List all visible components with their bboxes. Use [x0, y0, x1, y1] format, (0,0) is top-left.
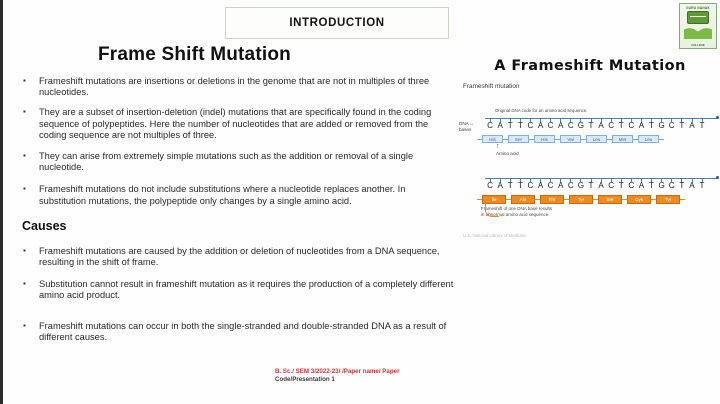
dna-base: T — [677, 121, 687, 131]
dna-base: C — [667, 121, 677, 131]
dna-base: A — [495, 181, 505, 191]
dna-base: T — [647, 121, 657, 131]
dna-base: T — [505, 181, 515, 191]
axis-tick — [611, 118, 612, 122]
dna-bases-label: DNA→ bases — [459, 121, 474, 133]
dna-base: C — [525, 121, 535, 131]
amino-acid-arrow-icon: ↑ — [496, 144, 719, 150]
dna-base: T — [616, 121, 626, 131]
logo-bottom-text: COLLEGE — [680, 43, 716, 47]
mutant-sequence-axis — [485, 176, 719, 181]
slide-footer: B. Sc./ SEM 3/2022-23/ /Paper name/ Pape… — [275, 368, 475, 384]
list-item: Frameshift mutations do not include subs… — [15, 184, 455, 206]
dna-base: C — [626, 181, 636, 191]
axis-endcap-icon — [716, 176, 719, 179]
causes-bullet-list: Frameshift mutations are caused by the a… — [15, 246, 455, 343]
amino-acid-box: Ala — [511, 195, 535, 204]
dna-base: T — [586, 121, 596, 131]
axis-tick — [591, 118, 592, 122]
causes-heading: Causes — [22, 219, 455, 233]
axis-tick — [520, 118, 521, 122]
dna-base: T — [616, 181, 626, 191]
list-item: Frameshift mutations are caused by the a… — [15, 246, 455, 268]
dna-base: T — [505, 121, 515, 131]
mutant-amino-acid-row: IleAlaThrTyrSerCysTyr — [477, 195, 719, 204]
dna-base: A — [636, 181, 646, 191]
amino-acid-box: Ser — [598, 195, 622, 204]
axis-tick — [671, 118, 672, 122]
amino-acid-box: His — [482, 135, 503, 143]
amino-acid-link — [659, 139, 664, 140]
axis-tick — [601, 118, 602, 122]
dna-base: T — [697, 181, 707, 191]
axis-tick — [580, 118, 581, 122]
amino-acid-box: Leu — [638, 135, 659, 143]
figure-row-gap — [461, 157, 719, 173]
amino-acid-box: Leu — [586, 135, 607, 143]
dna-base: A — [556, 181, 566, 191]
logo-top-text: GURU NANAK — [680, 6, 716, 10]
amino-acid-box: Tyr — [656, 195, 680, 204]
dna-base: C — [485, 181, 495, 191]
dna-base: A — [596, 181, 606, 191]
dna-base: A — [687, 181, 697, 191]
amino-acid-pointer-label: Amino acid — [496, 151, 719, 157]
list-item: Frameshift mutations are insertions or d… — [15, 76, 455, 98]
axis-tick — [510, 118, 511, 122]
dna-base: C — [485, 121, 495, 131]
dna-label-line1: DNA — [459, 121, 469, 126]
dna-base: A — [636, 121, 646, 131]
dna-base: C — [546, 121, 556, 131]
axis-tick — [500, 178, 501, 182]
axis-endcap-icon — [716, 116, 719, 119]
page-title: Frame Shift Mutation — [98, 44, 291, 66]
introduction-header-box: INTRODUCTION — [225, 7, 449, 39]
axis-tick — [570, 178, 571, 182]
axis-tick — [510, 178, 511, 182]
dna-base: C — [606, 181, 616, 191]
logo-leaf-icon — [684, 22, 712, 39]
axis-tick — [500, 118, 501, 122]
list-item: Frameshift mutations can occur in both t… — [15, 321, 455, 343]
axis-tick — [621, 178, 622, 182]
amino-acid-box: Thr — [540, 195, 564, 204]
axis-tick — [681, 118, 682, 122]
dna-base: C — [525, 181, 535, 191]
list-item: They can arise from extremely simple mut… — [15, 151, 455, 173]
college-logo-icon: GURU NANAK COLLEGE — [679, 3, 717, 49]
axis-tick — [661, 118, 662, 122]
axis-tick — [641, 118, 642, 122]
axis-tick — [641, 178, 642, 182]
dna-base: A — [535, 181, 545, 191]
axis-tick — [560, 178, 561, 182]
amino-acid-box: Met — [612, 135, 633, 143]
amino-acid-box: His — [534, 135, 555, 143]
axis-tick — [661, 178, 662, 182]
axis-tick — [550, 178, 551, 182]
axis-tick — [540, 178, 541, 182]
slide-canvas: INTRODUCTION GURU NANAK COLLEGE Frame Sh… — [0, 0, 720, 404]
list-item: They are a subset of insertion-deletion … — [15, 107, 455, 141]
axis-tick — [651, 178, 652, 182]
dna-base: A — [687, 121, 697, 131]
amino-acid-box: Tyr — [569, 195, 593, 204]
axis-tick — [601, 178, 602, 182]
dna-base: C — [626, 121, 636, 131]
list-item: Substitution cannot result in frameshift… — [15, 279, 455, 301]
dna-label-line2: bases — [459, 127, 471, 132]
dna-base: A — [556, 121, 566, 131]
amino-acid-box: Val — [560, 135, 581, 143]
axis-tick — [631, 178, 632, 182]
axis-tick — [591, 178, 592, 182]
dna-base: C — [566, 181, 576, 191]
dna-base: G — [576, 181, 586, 191]
mutant-sequence-block: CATTCACACGTACTCATGCTAT IleAlaThrTyrSerCy… — [461, 176, 719, 217]
axis-tick — [692, 118, 693, 122]
axis-tick — [490, 178, 491, 182]
normal-sequence-block: DNA→ bases CATTCACACGTACTCATGCTAT HisSer… — [461, 116, 719, 157]
dna-label-arrow-icon: → — [469, 121, 474, 127]
dna-base: C — [546, 181, 556, 191]
amino-acid-pointer: ↑ Amino acid — [496, 144, 719, 157]
axis-tick — [692, 178, 693, 182]
axis-tick — [530, 178, 531, 182]
normal-sequence-axis — [485, 116, 719, 121]
axis-tick — [681, 178, 682, 182]
axis-tick — [520, 178, 521, 182]
figure-credit: U.S. National Library of Medicine — [463, 233, 719, 238]
axis-tick — [560, 118, 561, 122]
dna-base: G — [657, 181, 667, 191]
dna-base: T — [647, 181, 657, 191]
dna-base: T — [515, 181, 525, 191]
axis-tick — [570, 118, 571, 122]
dna-base: G — [657, 121, 667, 131]
figure-panel: A Frameshift Mutation Frameshift mutatio… — [461, 58, 719, 333]
mutant-base-sequence: CATTCACACGTACTCATGCTAT — [485, 181, 719, 191]
intro-bullet-list: Frameshift mutations are insertions or d… — [15, 76, 455, 207]
dna-base: G — [576, 121, 586, 131]
footer-line-1: B. Sc./ SEM 3/2022-23/ /Paper name/ Pape… — [275, 368, 475, 376]
axis-tick — [611, 178, 612, 182]
dna-base: T — [515, 121, 525, 131]
axis-tick — [651, 118, 652, 122]
dna-base: C — [667, 181, 677, 191]
figure-top-caption: Original DNA code for an amino acid sequ… — [495, 108, 719, 113]
dna-base: C — [606, 121, 616, 131]
axis-tick — [540, 118, 541, 122]
axis-tick — [671, 178, 672, 182]
axis-tick — [580, 178, 581, 182]
content-column: Frameshift mutations are insertions or d… — [15, 76, 455, 343]
footer-line-2: Code/Presentation 1 — [275, 376, 475, 384]
dna-base: T — [586, 181, 596, 191]
dna-base: C — [566, 121, 576, 131]
amino-acid-box: Ser — [508, 135, 529, 143]
dna-base: A — [596, 121, 606, 131]
amino-acid-box: Cys — [627, 195, 651, 204]
dna-base: T — [677, 181, 687, 191]
amino-acid-link — [680, 199, 685, 200]
axis-tick — [490, 118, 491, 122]
mutant-caption: Frameshift of one DNA base results in ab… — [481, 206, 719, 217]
figure-title: A Frameshift Mutation — [461, 58, 719, 74]
dna-base: T — [697, 121, 707, 131]
axis-tick — [702, 178, 703, 182]
dna-base: A — [535, 121, 545, 131]
axis-tick — [621, 118, 622, 122]
introduction-label: INTRODUCTION — [289, 17, 384, 29]
normal-base-sequence: CATTCACACGTACTCATGCTAT — [485, 121, 719, 131]
normal-amino-acid-row: HisSerHisValLeuMetLeu — [477, 135, 719, 143]
hook-arrow-icon — [485, 202, 499, 217]
dna-base: A — [495, 121, 505, 131]
axis-tick — [702, 118, 703, 122]
axis-tick — [550, 118, 551, 122]
axis-tick — [631, 118, 632, 122]
axis-tick — [530, 118, 531, 122]
figure-subtitle: Frameshift mutation — [463, 83, 719, 90]
